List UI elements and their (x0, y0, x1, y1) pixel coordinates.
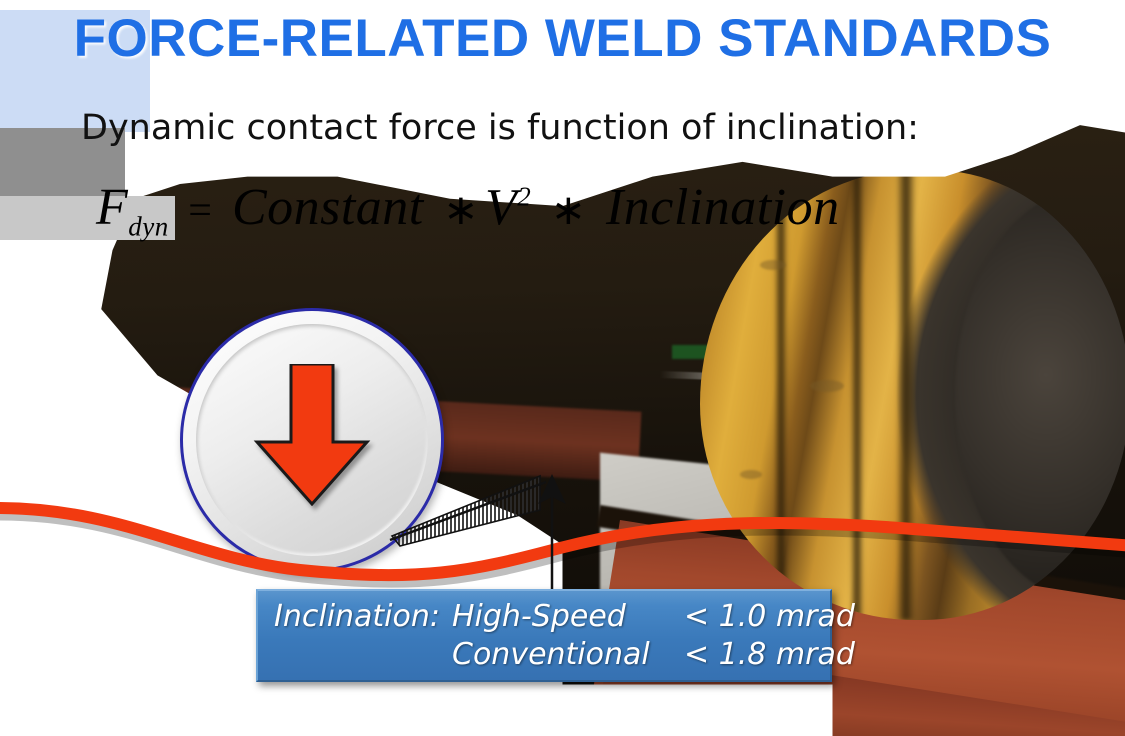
banner-kind-high-speed: High-Speed (452, 598, 684, 636)
formula-lhs-symbol: F (96, 179, 128, 236)
formula-expression: Fdyn = Constant ∗V2 ∗ Inclination (96, 178, 840, 242)
banner-value-high-speed: < 1.0 mrad (684, 598, 855, 636)
banner-label: Inclination: (274, 598, 452, 636)
inclination-limits-banner: Inclination: High-Speed < 1.0 mrad Incli… (256, 589, 832, 682)
formula-term-constant: Constant (232, 179, 424, 236)
page-title: FORCE-RELATED WELD STANDARDS (0, 8, 1125, 69)
banner-row: Inclination: High-Speed < 1.0 mrad (274, 598, 816, 636)
formula-term-inclination: Inclination (606, 179, 840, 236)
force-indicator-button[interactable] (180, 308, 444, 572)
photo-wheel-hub (955, 190, 1125, 600)
banner-kind-conventional: Conventional (452, 636, 684, 674)
banner-value-conventional: < 1.8 mrad (684, 636, 855, 674)
subtitle-text: Dynamic contact force is function of inc… (0, 108, 1000, 148)
banner-row: Inclination: Conventional < 1.8 mrad (274, 636, 816, 674)
formula-multiply-2: ∗ (545, 188, 593, 234)
down-arrow-icon (249, 364, 375, 506)
formula-multiply-1: ∗ (437, 188, 485, 234)
slide-canvas: FORCE-RELATED WELD STANDARDS Dynamic con… (0, 0, 1125, 736)
formula-velocity-exponent: 2 (517, 182, 531, 212)
formula-equals: = (182, 188, 218, 234)
formula-lhs-subscript: dyn (128, 211, 168, 241)
formula-term-velocity: V (485, 179, 517, 236)
